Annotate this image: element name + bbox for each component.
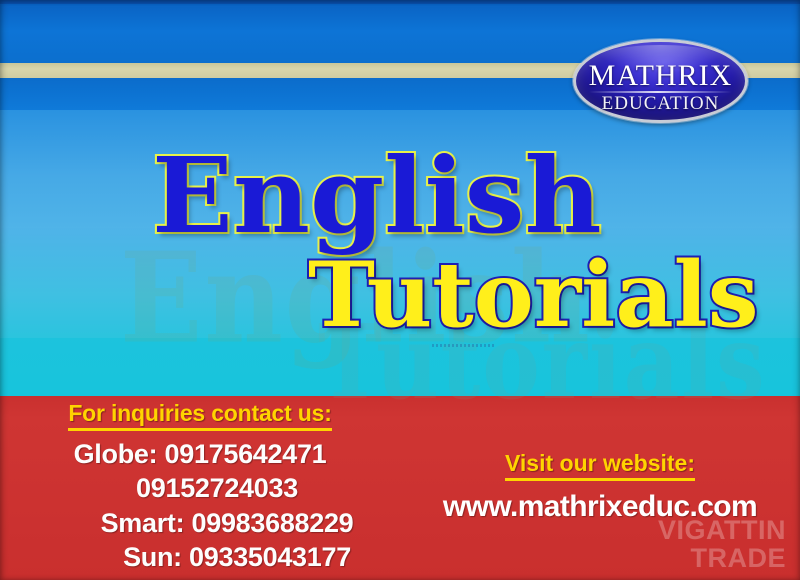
website-heading-text: Visit our website: bbox=[505, 450, 695, 481]
background-band-blue-mid bbox=[0, 110, 800, 230]
contact-heading: For inquiries contact us: bbox=[0, 400, 400, 431]
website-heading: Visit our website: bbox=[400, 450, 800, 481]
contact-heading-text: For inquiries contact us: bbox=[68, 400, 331, 431]
contact-line-globe-primary: Globe: 09175642471 bbox=[0, 437, 400, 471]
website-block: Visit our website: www.mathrixeduc.com bbox=[400, 450, 800, 524]
mathrix-education-logo: MATHRIX EDUCATION bbox=[573, 39, 748, 123]
contact-line-globe-secondary: 09152724033 bbox=[0, 471, 400, 505]
contact-number-list: Globe: 09175642471 09152724033 Smart: 09… bbox=[0, 437, 400, 574]
background-band-blue-lower bbox=[0, 228, 800, 340]
logo-brand-tagline: EDUCATION bbox=[573, 94, 748, 113]
contact-line-smart: Smart: 09983688229 bbox=[0, 506, 400, 540]
logo-brand-name: MATHRIX bbox=[573, 61, 748, 91]
contact-line-sun: Sun: 09335043177 bbox=[0, 540, 400, 574]
background-band-cyan bbox=[0, 338, 800, 397]
contact-block: For inquiries contact us: Globe: 0917564… bbox=[0, 400, 400, 574]
poster-canvas: English Tutorials MATHRIX EDUCATION Engl… bbox=[0, 0, 800, 580]
website-url[interactable]: www.mathrixeduc.com bbox=[400, 490, 800, 524]
